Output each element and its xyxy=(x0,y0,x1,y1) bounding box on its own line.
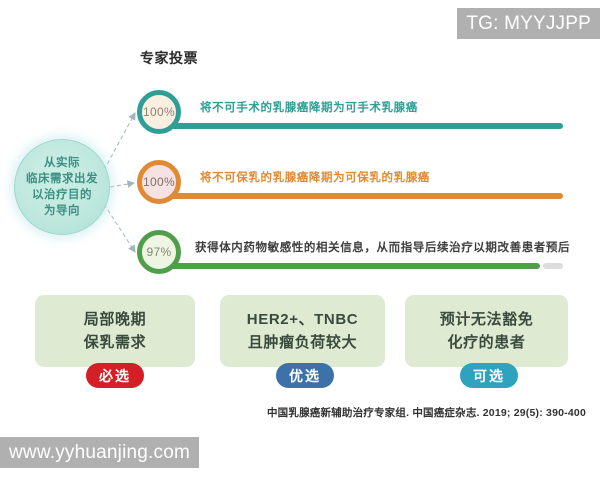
watermark-top-right: TG: MYYJJPP xyxy=(457,8,600,39)
connector-line-1 xyxy=(104,113,135,170)
card-line-2: 且肿瘤负荷较大 xyxy=(248,331,357,354)
watermark-bottom-left: www.yyhuanjing.com xyxy=(0,437,199,468)
recommendation-card: 预计无法豁免 化疗的患者 xyxy=(405,295,568,367)
connector-line-3 xyxy=(104,204,135,252)
vote-percent-circle: 100% xyxy=(137,160,181,204)
vote-text: 获得体内药物敏感性的相关信息，从而指导后续治疗以期改善患者预后 xyxy=(195,239,570,255)
citation-text: 中国乳腺癌新辅助治疗专家组. 中国癌症杂志. 2019; 29(5): 390-… xyxy=(267,405,586,420)
vote-bar xyxy=(159,193,563,199)
vote-text: 将不可保乳的乳腺癌降期为可保乳的乳腺癌 xyxy=(200,169,430,185)
origin-line-3: 以治疗目的 xyxy=(32,187,92,203)
card-line-1: HER2+、TNBC xyxy=(247,308,358,331)
recommendation-card: HER2+、TNBC 且肿瘤负荷较大 xyxy=(220,295,385,367)
vote-bar-remainder xyxy=(543,263,563,269)
card-line-2: 化疗的患者 xyxy=(447,331,525,354)
vote-percent-circle: 97% xyxy=(137,230,181,274)
recommendation-card: 局部晚期 保乳需求 xyxy=(35,295,195,367)
origin-circle: 从实际 临床需求出发 以治疗目的 为导向 xyxy=(14,139,110,235)
vote-bar xyxy=(159,263,540,269)
connector-line-2 xyxy=(110,183,134,187)
vote-bar xyxy=(159,123,563,129)
section-title: 专家投票 xyxy=(140,48,198,68)
vote-percent-circle: 100% xyxy=(137,90,181,134)
card-line-2: 保乳需求 xyxy=(84,331,146,354)
card-line-1: 局部晚期 xyxy=(84,308,146,331)
origin-line-2: 临床需求出发 xyxy=(26,171,98,187)
origin-line-1: 从实际 xyxy=(44,155,80,171)
status-badge: 优选 xyxy=(276,363,334,388)
card-line-1: 预计无法豁免 xyxy=(440,308,534,331)
origin-line-4: 为导向 xyxy=(44,203,80,219)
status-badge: 必选 xyxy=(86,363,144,388)
status-badge: 可选 xyxy=(460,363,518,388)
slide-root: TG: MYYJJPP 专家投票 从实际 临床需求出发 以治疗目的 为导向 10… xyxy=(0,0,600,480)
vote-text: 将不可手术的乳腺癌降期为可手术乳腺癌 xyxy=(200,99,418,115)
